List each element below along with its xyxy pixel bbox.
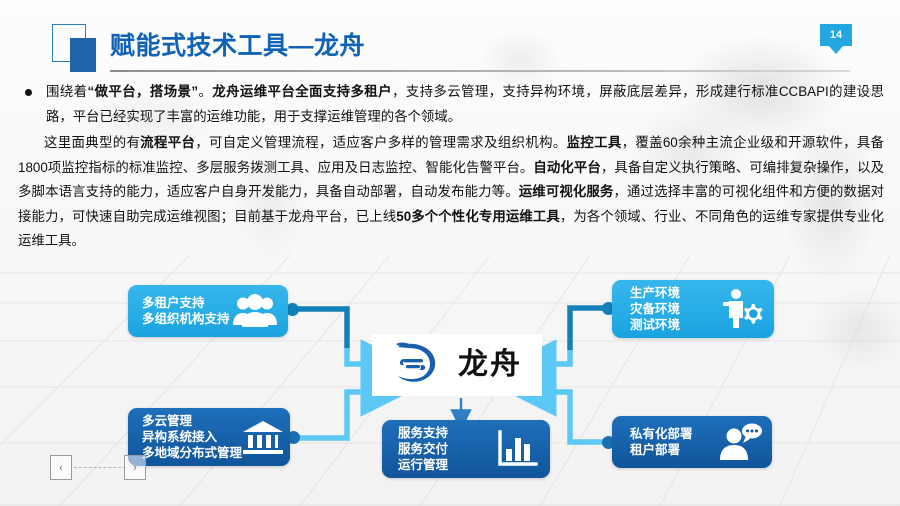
dragon-boat-logo-mark — [392, 339, 454, 391]
node-line: 私有化部署 — [630, 426, 716, 442]
paragraph-1-rich: 围绕着“做平台，搭场景”。龙舟运维平台全面支持多租户，支持多云管理，支持异构环境… — [46, 84, 884, 124]
logo-wordmark: 龙舟 — [458, 350, 522, 380]
users-group-icon — [232, 294, 278, 328]
node-line: 服务支持 — [398, 425, 496, 441]
header-decor-square-solid — [70, 38, 96, 72]
next-slide-button[interactable]: › — [124, 455, 146, 480]
node-line: 生产环境 — [630, 285, 720, 301]
node-line: 灾备环境 — [630, 301, 720, 317]
diagram-node-multi-cloud[interactable]: 多云管理 异构系统接入 多地域分布式管理 — [128, 408, 290, 466]
diagram-node-multi-tenant[interactable]: 多租户支持 多组织机构支持 — [128, 285, 288, 337]
node-line: 多云管理 — [142, 413, 242, 429]
bullet-dot-icon — [25, 89, 32, 96]
person-gear-icon — [720, 288, 766, 330]
prev-slide-button[interactable]: ‹ — [50, 455, 72, 480]
node-line: 租户部署 — [630, 442, 716, 458]
paragraph-2-rich: 这里面典型的有流程平台，可自定义管理流程，适应客户多样的管理需求及组织机构。监控… — [18, 135, 884, 248]
node-line: 多租户支持 — [142, 295, 232, 311]
paragraph-1: 围绕着“做平台，搭场景”。龙舟运维平台全面支持多租户，支持多云管理，支持异构环境… — [18, 80, 884, 129]
diagram-node-service-ops[interactable]: 服务支持 服务交付 运行管理 — [382, 420, 550, 478]
page-number-badge: 14 — [820, 24, 852, 46]
slide-navigation: ‹ › — [50, 455, 146, 481]
node-line: 异构系统接入 — [142, 429, 242, 445]
slide-canvas: 赋能式技术工具—龙舟 14 围绕着“做平台，搭场景”。龙舟运维平台全面支持多租户… — [0, 0, 900, 506]
page-title: 赋能式技术工具—龙舟 — [110, 26, 365, 62]
node-labels-multi-tenant: 多租户支持 多组织机构支持 — [142, 295, 232, 327]
diagram-node-private-deploy[interactable]: 私有化部署 租户部署 — [612, 416, 772, 468]
bar-chart-icon — [496, 429, 540, 469]
header-divider-rule — [110, 70, 850, 72]
paragraph-2: 这里面典型的有流程平台，可自定义管理流程，适应客户多样的管理需求及组织机构。监控… — [18, 131, 884, 254]
node-line: 测试环境 — [630, 317, 720, 333]
node-labels-service-ops: 服务支持 服务交付 运行管理 — [398, 425, 496, 473]
nav-dashed-connector — [74, 467, 126, 468]
node-labels-multi-cloud: 多云管理 异构系统接入 多地域分布式管理 — [142, 413, 242, 461]
node-line: 多地域分布式管理 — [142, 445, 242, 461]
node-labels-private-deploy: 私有化部署 租户部署 — [630, 426, 716, 458]
longzhou-logo: 龙舟 — [372, 334, 542, 396]
slide-body-text: 围绕着“做平台，搭场景”。龙舟运维平台全面支持多租户，支持多云管理，支持异构环境… — [18, 80, 884, 254]
node-line: 运行管理 — [398, 457, 496, 473]
slide-header: 赋能式技术工具—龙舟 — [26, 14, 874, 72]
bank-building-icon — [242, 419, 284, 455]
node-line: 多组织机构支持 — [142, 311, 232, 327]
node-line: 服务交付 — [398, 441, 496, 457]
person-speech-bubble-icon — [716, 423, 762, 461]
node-labels-environments: 生产环境 灾备环境 测试环境 — [630, 285, 720, 333]
diagram-node-environments[interactable]: 生产环境 灾备环境 测试环境 — [612, 280, 774, 338]
